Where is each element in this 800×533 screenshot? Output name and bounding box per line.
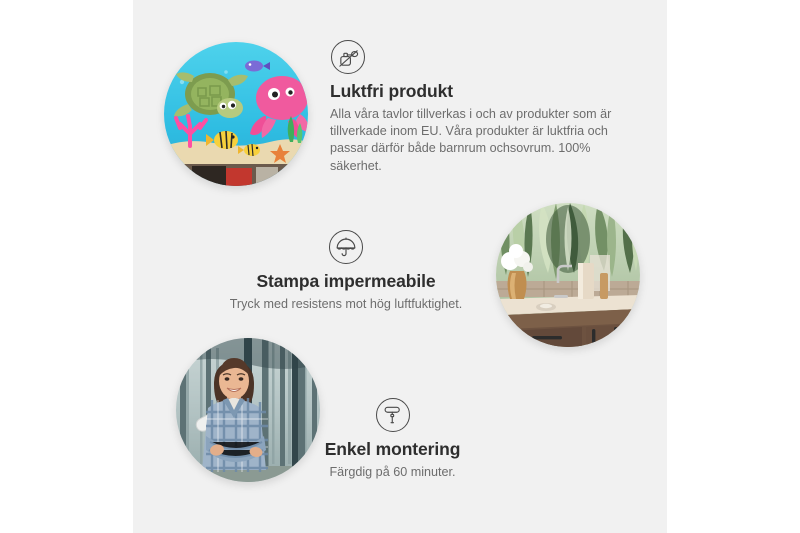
feature-title: Enkel montering <box>300 439 485 460</box>
feature-body: Alla våra tavlor tillverkas i och av pro… <box>330 106 618 175</box>
umbrella-icon <box>329 230 363 264</box>
feature-body: Färgdig på 60 minuter. <box>300 464 485 481</box>
feature-waterproof: Stampa impermeabile Tryck med resistens … <box>220 230 472 313</box>
paint-roller-icon <box>376 398 410 432</box>
feature-title: Luktfri produkt <box>330 81 618 102</box>
photo-underwater-cartoon-scene <box>164 42 308 186</box>
photo-bathroom-interior <box>496 203 640 347</box>
promo-graphic: Luktfri produkt Alla våra tavlor tillver… <box>0 0 800 533</box>
feature-body: Tryck med resistens mot hög luftfuktighe… <box>220 296 472 313</box>
no-odour-perfume-bottle-icon <box>331 40 365 74</box>
photo-woman-with-paint-roller <box>176 338 320 482</box>
feature-odourless: Luktfri produkt Alla våra tavlor tillver… <box>330 40 618 175</box>
feature-title: Stampa impermeabile <box>220 271 472 292</box>
feature-easy-assembly: Enkel montering Färgdig på 60 minuter. <box>300 398 485 481</box>
